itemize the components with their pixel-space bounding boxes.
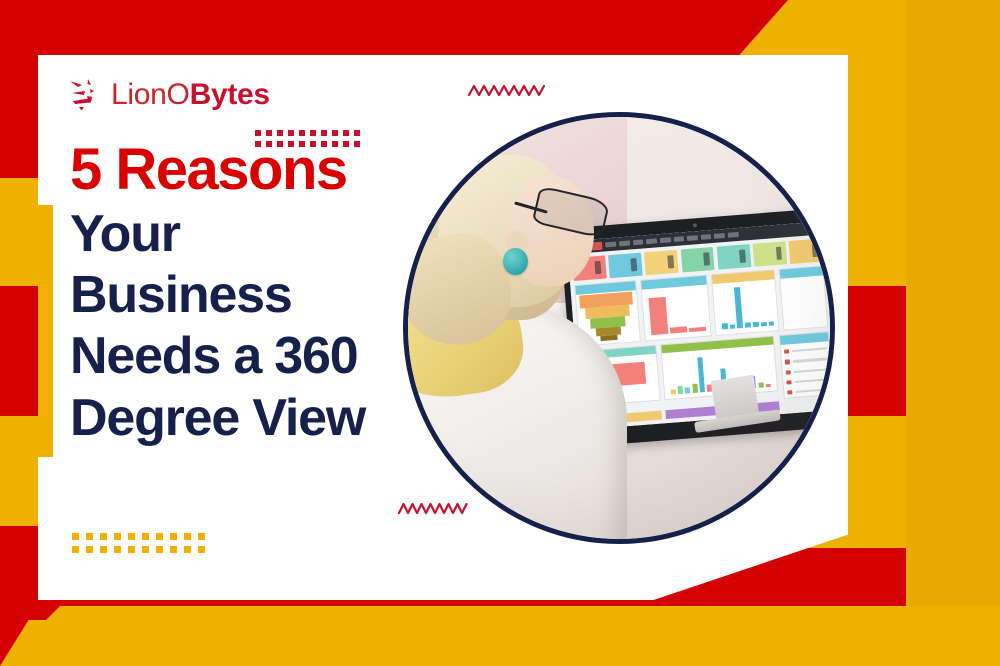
lion-mark-icon: [68, 76, 102, 114]
nav-item[interactable]: [619, 241, 630, 247]
kpi-card-4[interactable]: [681, 247, 715, 272]
panel-header: [780, 332, 829, 345]
kpi-card-3[interactable]: [645, 250, 679, 275]
side-list-panel: [779, 265, 829, 331]
headline-line-2: Your: [70, 207, 430, 261]
nav-item[interactable]: [647, 239, 658, 245]
headline-line-3: Business: [70, 268, 430, 322]
notification-item[interactable]: [787, 385, 830, 397]
headline-line-1: 5 Reasons: [70, 140, 430, 200]
kpi-card-2[interactable]: [608, 253, 642, 278]
nav-item[interactable]: [606, 242, 617, 248]
background-gutter-right: [906, 0, 1000, 666]
photo-woman-at-computer: [408, 117, 830, 539]
headline-line-5: Degree View: [70, 391, 430, 445]
nav-item[interactable]: [701, 234, 712, 240]
nav-item[interactable]: [714, 233, 725, 239]
yellow-square-dot-grid: [72, 533, 205, 553]
nav-item[interactable]: [633, 240, 644, 246]
bar-chart-panel-2: [711, 269, 780, 336]
nav-item[interactable]: [687, 236, 698, 242]
notifications-panel: [779, 331, 830, 399]
nav-item[interactable]: [674, 237, 685, 243]
headline-block: 5 Reasons Your Business Needs a 360 Degr…: [70, 140, 430, 445]
nav-item[interactable]: [728, 232, 739, 238]
yellow-accent-bar: [38, 205, 53, 457]
bar-chart-2: [719, 281, 775, 330]
notification-list: [784, 345, 830, 396]
nav-item[interactable]: [660, 238, 671, 244]
brand-wordmark: LionOBytes: [111, 80, 270, 110]
headline-line-4: Needs a 360: [70, 329, 430, 383]
brand-name-part2: O: [167, 78, 190, 111]
brand-name-part1: Lion: [111, 78, 167, 111]
kpi-card-6[interactable]: [753, 242, 787, 267]
photo-circle-frame: [403, 112, 835, 544]
panel-header: [780, 266, 824, 278]
brand-name-part3: Bytes: [190, 78, 270, 111]
kpi-card-7[interactable]: [789, 239, 823, 264]
brand-logo[interactable]: LionOBytes: [68, 76, 270, 114]
red-square-dot-grid: [255, 130, 360, 147]
bar-chart-1: [648, 287, 706, 336]
banner-canvas: LionOBytes 5 Reasons Your Business Needs…: [0, 0, 1000, 666]
bar-chart-panel-1: [640, 274, 712, 341]
background-floor-yellow: [0, 606, 1000, 666]
kpi-card-5[interactable]: [717, 245, 751, 270]
red-zigzag-top-icon: [468, 82, 546, 105]
